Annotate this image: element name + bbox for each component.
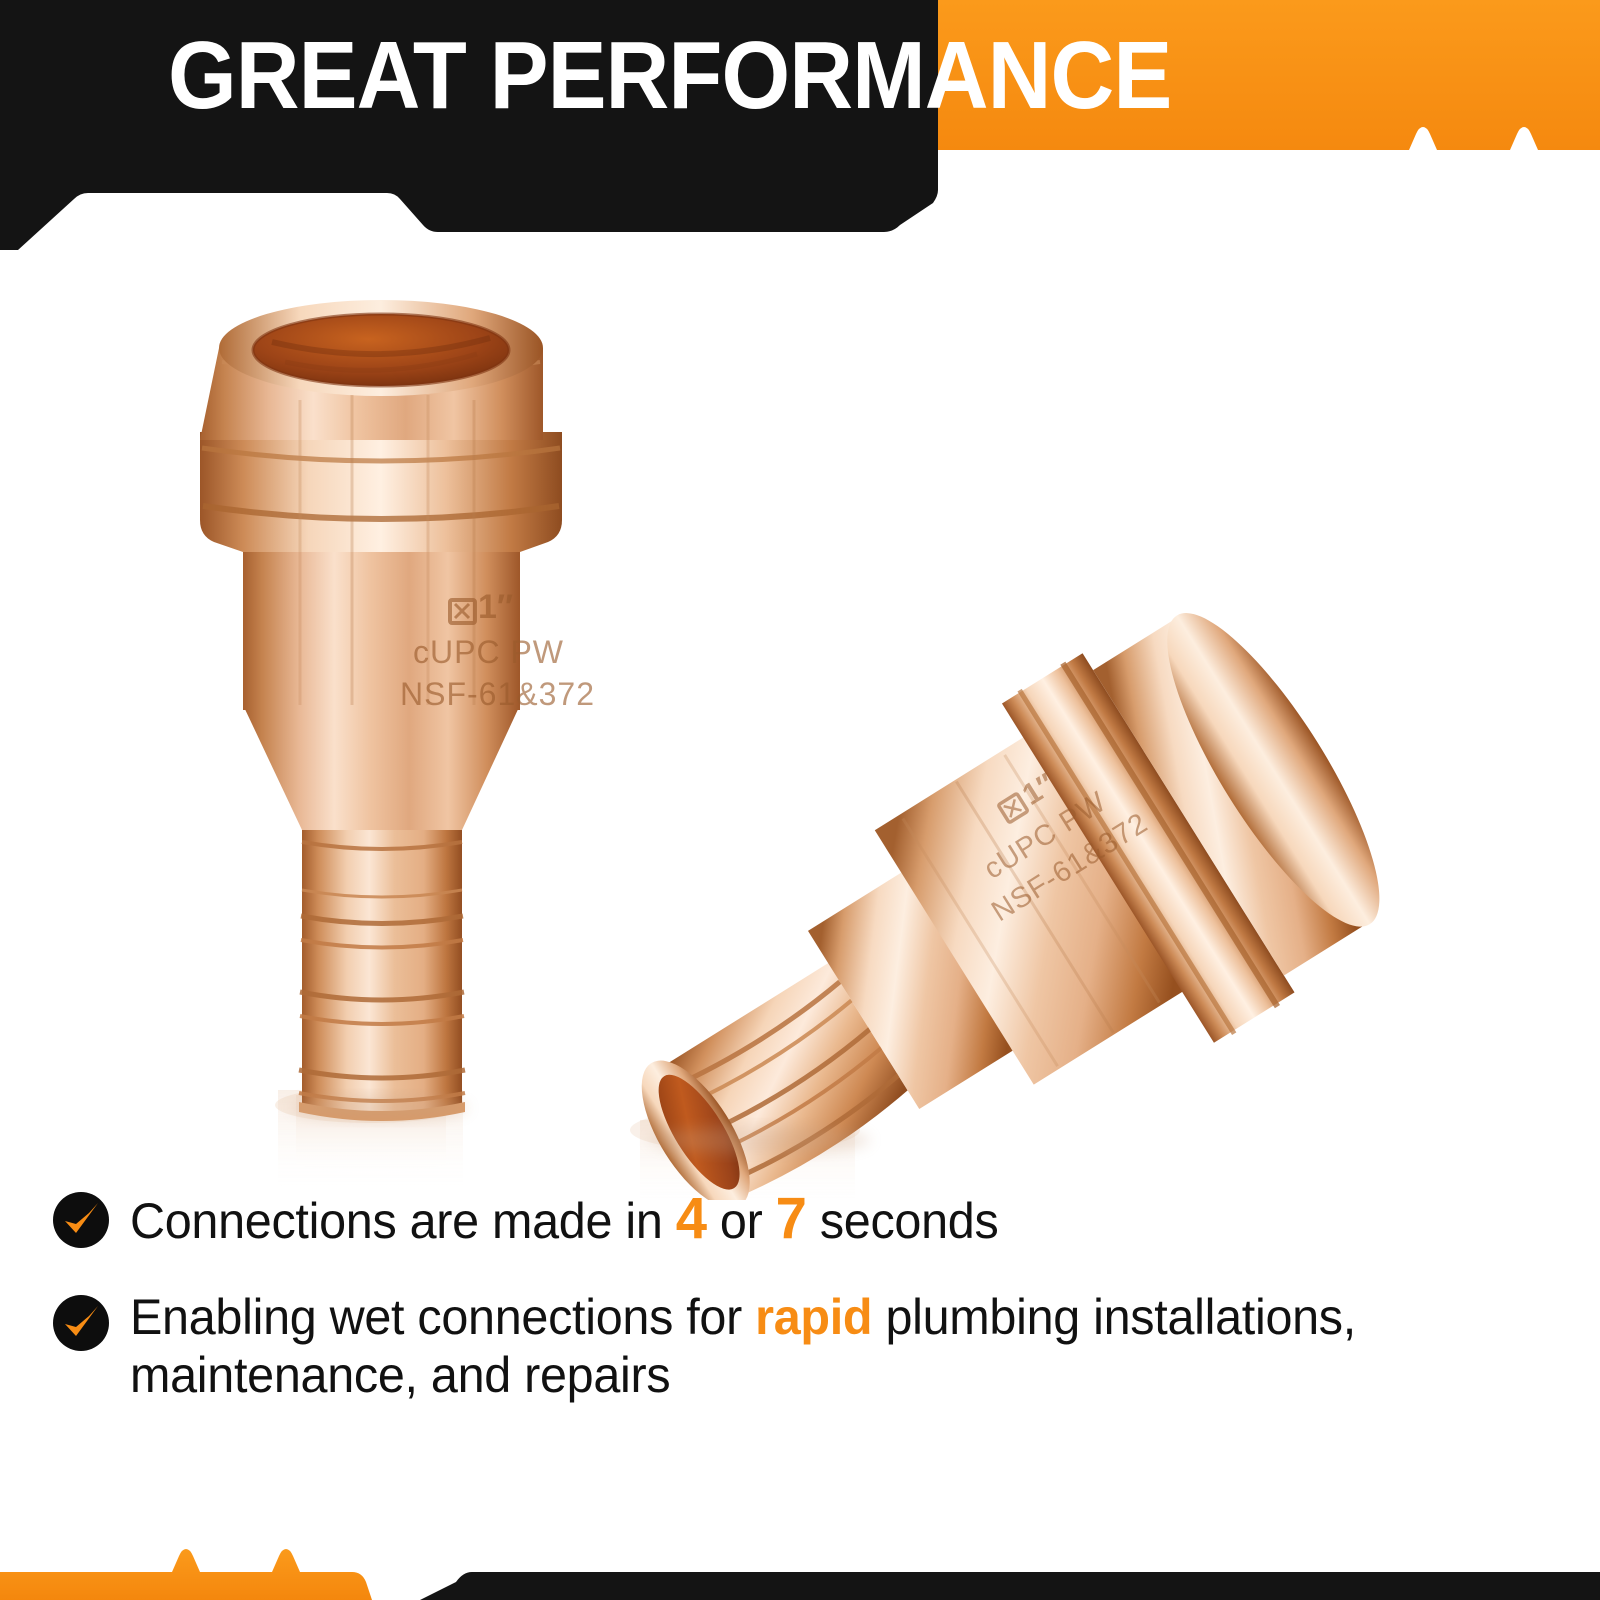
shadow-upright [292, 1096, 468, 1120]
footer-black-shape [420, 1572, 1600, 1600]
bullet1-seg1: Connections are made in [130, 1193, 676, 1249]
bullet2-highlight-rapid: rapid [755, 1289, 872, 1345]
bullet1-num-7: 7 [776, 1186, 807, 1251]
press-bead [200, 432, 562, 552]
shadow-tilted [650, 1126, 870, 1154]
list-item-text: Connections are made in 4 or 7 seconds [130, 1185, 998, 1252]
engraving-line2: cUPC PW [413, 634, 564, 670]
infographic-canvas: GREAT PERFORMANCE [0, 0, 1600, 1600]
check-badge-icon [52, 1294, 110, 1352]
list-item-text: Enabling wet connections for rapid plumb… [130, 1288, 1529, 1404]
list-item: Enabling wet connections for rapid plumb… [52, 1288, 1572, 1404]
fitting-tilted: 1″ cUPC PW NSF-61&372 [557, 571, 1425, 1200]
product-image: 1″ cUPC PW NSF-61&372 [0, 250, 1600, 1200]
bullet1-seg3: or [707, 1193, 776, 1249]
list-item: Connections are made in 4 or 7 seconds [52, 1185, 1572, 1252]
bullet2-seg1: Enabling wet connections for [130, 1289, 755, 1345]
header-shape [0, 0, 1600, 250]
copper-fittings-illustration: 1″ cUPC PW NSF-61&372 [0, 250, 1600, 1200]
engraving-line3: NSF-61&372 [400, 676, 595, 712]
transition-cone [243, 705, 520, 830]
bullet1-seg5: seconds [807, 1193, 999, 1249]
feature-list: Connections are made in 4 or 7 seconds E… [52, 1185, 1572, 1440]
header-orange-band [938, 0, 1600, 150]
check-badge-icon [52, 1191, 110, 1249]
header-black-band [0, 0, 938, 250]
footer-orange-shape [0, 1549, 372, 1600]
bullet1-num-4: 4 [676, 1186, 707, 1251]
footer-shape [0, 1530, 1600, 1600]
engraving-size: 1″ [478, 588, 513, 626]
header-banner: GREAT PERFORMANCE [0, 0, 1600, 250]
fitting-upright: 1″ cUPC PW NSF-61&372 [200, 300, 595, 1121]
footer-banner [0, 1530, 1600, 1600]
